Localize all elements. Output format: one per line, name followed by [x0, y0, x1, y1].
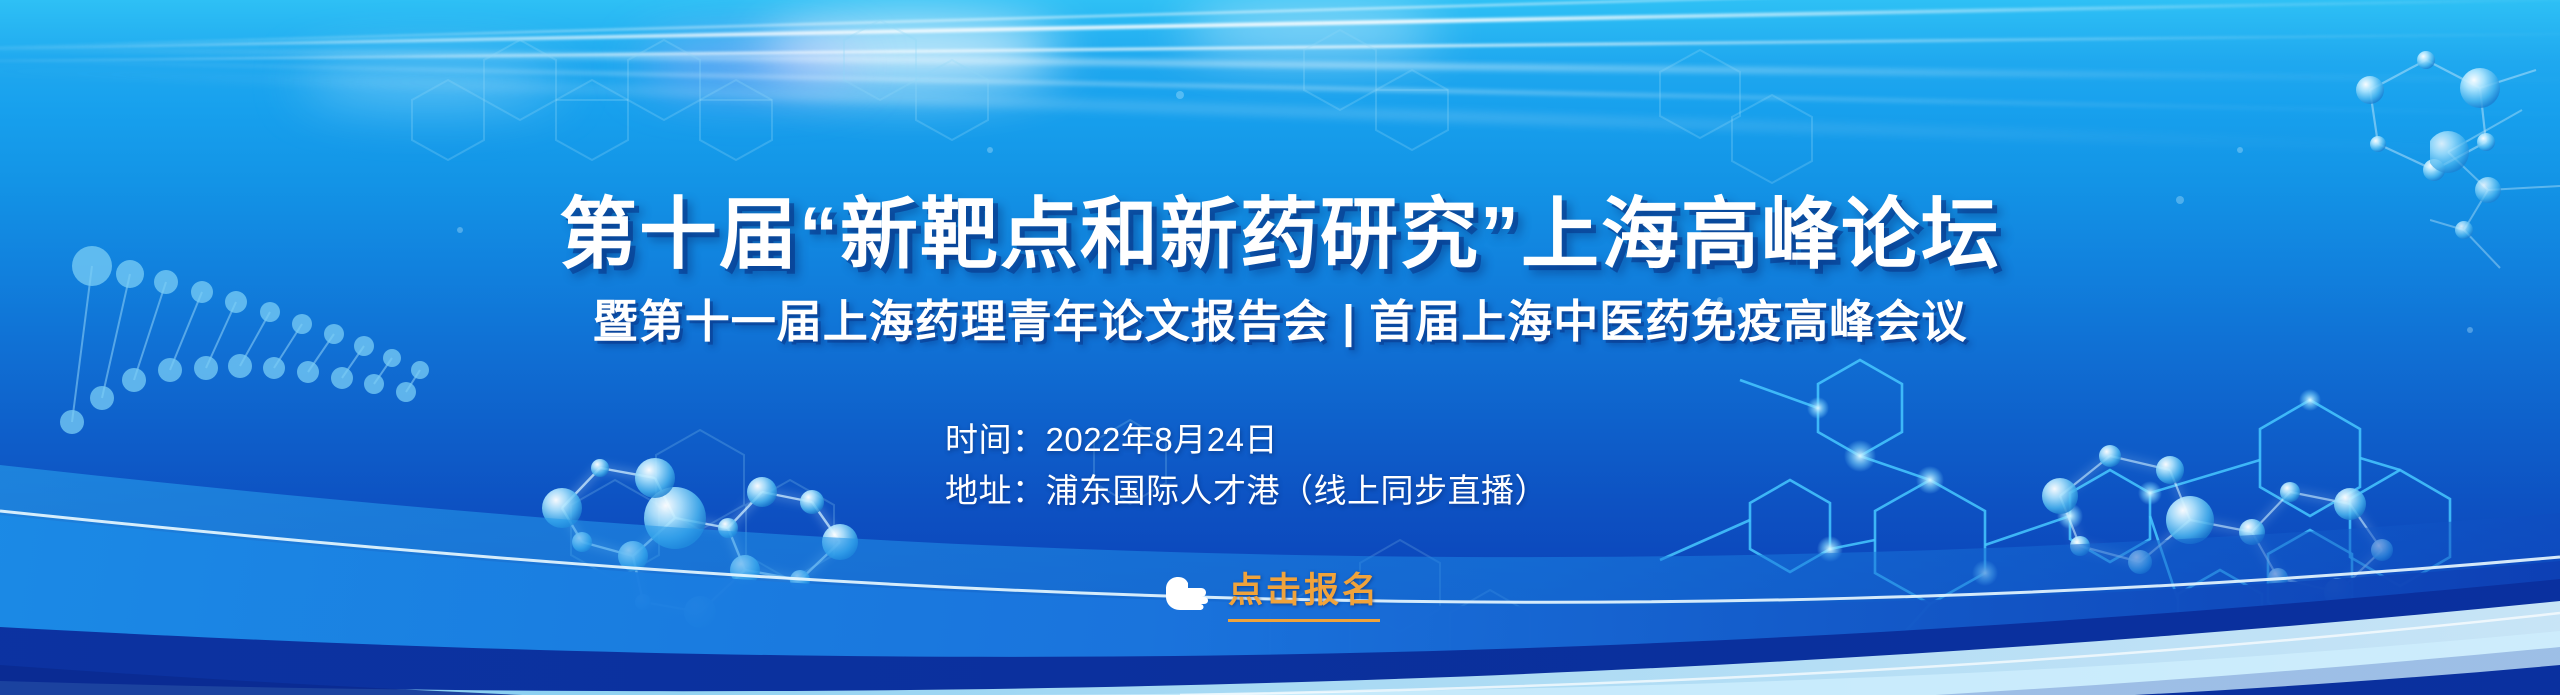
conference-banner: 第十届“新靶点和新药研究”上海高峰论坛 暨第十一届上海药理青年论文报告会 | 首…: [0, 0, 2560, 695]
register-cta[interactable]: 点击报名: [1160, 562, 1380, 622]
banner-content: 第十届“新靶点和新药研究”上海高峰论坛 暨第十一届上海药理青年论文报告会 | 首…: [0, 0, 2560, 695]
event-address: 地址：浦东国际人才港（线上同步直播）: [945, 465, 1548, 516]
page-subtitle: 暨第十一届上海药理青年论文报告会 | 首届上海中医药免疫高峰会议: [0, 294, 2560, 350]
pointing-hand-icon: [1160, 571, 1210, 613]
page-title: 第十届“新靶点和新药研究”上海高峰论坛: [0, 186, 2560, 282]
register-link-label[interactable]: 点击报名: [1228, 562, 1380, 622]
event-time: 时间：2022年8月24日: [945, 414, 1548, 465]
event-info: 时间：2022年8月24日 地址：浦东国际人才港（线上同步直播）: [945, 414, 1548, 516]
